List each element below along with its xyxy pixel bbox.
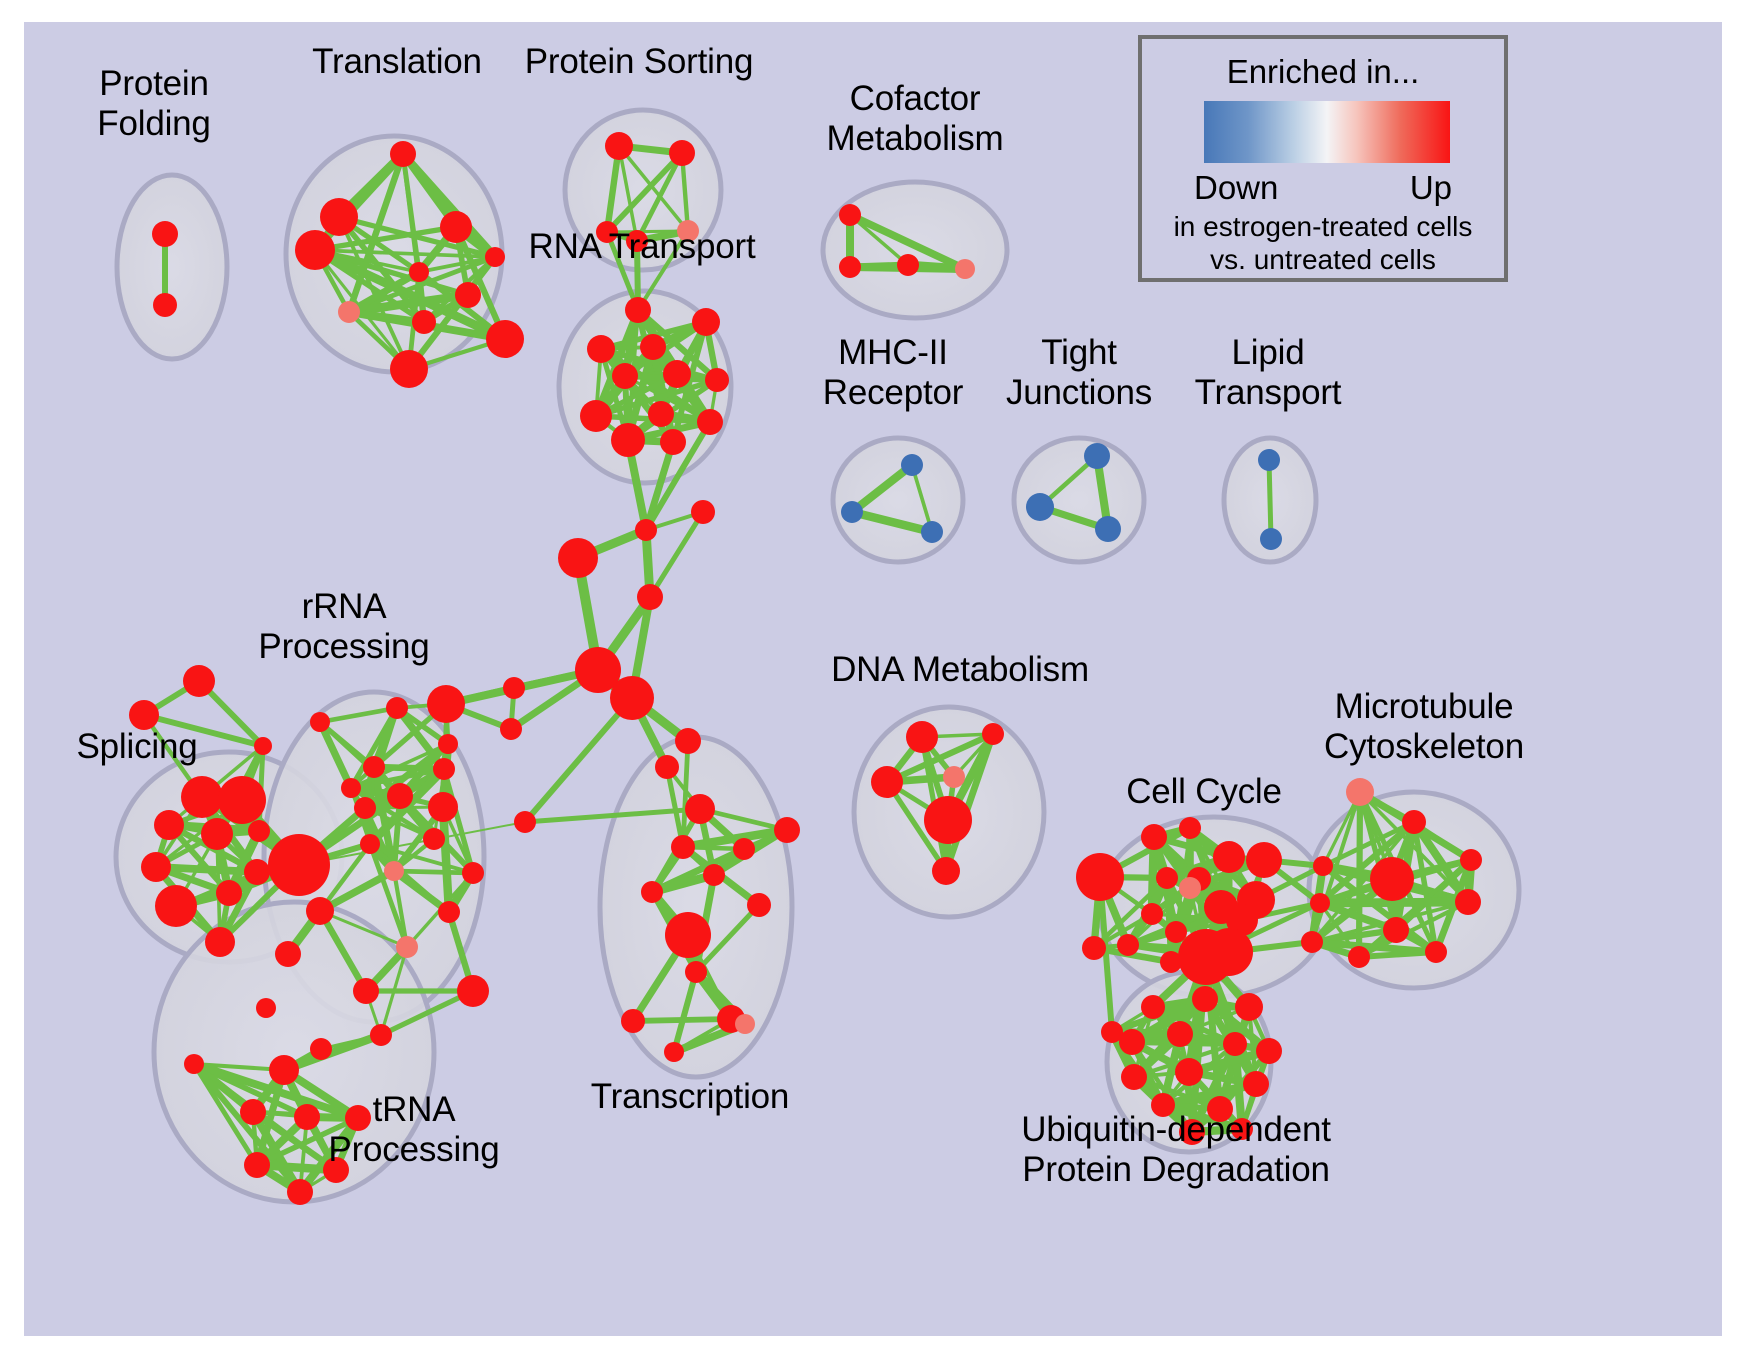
network-node[interactable]	[240, 1099, 266, 1125]
enrichment-map-figure: Protein FoldingTranslationProtein Sortin…	[0, 0, 1750, 1360]
network-node[interactable]	[625, 297, 651, 323]
network-node[interactable]	[384, 861, 404, 881]
network-edge	[633, 1019, 731, 1021]
network-node[interactable]	[427, 685, 465, 723]
network-node[interactable]	[697, 409, 723, 435]
network-node[interactable]	[433, 758, 455, 780]
color-scale-gradient	[1204, 101, 1450, 163]
network-node[interactable]	[685, 961, 707, 983]
network-node[interactable]	[1117, 934, 1139, 956]
network-edge	[525, 698, 632, 822]
network-node[interactable]	[457, 975, 489, 1007]
network-node[interactable]	[1141, 824, 1167, 850]
network-node[interactable]	[514, 811, 536, 833]
network-node[interactable]	[611, 423, 645, 457]
network-node[interactable]	[306, 897, 334, 925]
network-node[interactable]	[747, 893, 771, 917]
network-node[interactable]	[440, 211, 472, 243]
network-node[interactable]	[438, 734, 458, 754]
cluster-label-trna-processing: tRNA Processing	[328, 1090, 499, 1170]
network-node[interactable]	[181, 776, 223, 818]
network-node[interactable]	[141, 852, 171, 882]
network-node[interactable]	[1313, 856, 1333, 876]
network-node[interactable]	[1082, 936, 1106, 960]
network-node[interactable]	[1301, 931, 1323, 953]
network-edge	[1320, 902, 1468, 903]
network-node[interactable]	[387, 783, 413, 809]
network-node[interactable]	[1246, 842, 1282, 878]
cluster-hull-mhc-ii-receptor	[833, 438, 963, 562]
network-node[interactable]	[485, 247, 505, 267]
network-node[interactable]	[455, 282, 481, 308]
network-node[interactable]	[486, 320, 524, 358]
cluster-label-splicing: Splicing	[77, 727, 198, 767]
network-node[interactable]	[664, 1042, 684, 1062]
network-node[interactable]	[1258, 449, 1280, 471]
network-node[interactable]	[295, 230, 335, 270]
cluster-label-dna-metabolism: DNA Metabolism	[831, 650, 1089, 690]
network-node[interactable]	[932, 857, 960, 885]
network-node[interactable]	[1175, 1058, 1203, 1086]
network-node[interactable]	[244, 1152, 270, 1178]
network-node[interactable]	[841, 501, 863, 523]
legend-title: Enriched in...	[1142, 53, 1504, 91]
network-node[interactable]	[669, 140, 695, 166]
network-node[interactable]	[184, 1054, 204, 1074]
legend-subtitle-line2: vs. untreated cells	[1142, 244, 1504, 276]
cluster-label-cofactor-metabolism: Cofactor Metabolism	[827, 79, 1004, 159]
network-node[interactable]	[256, 998, 276, 1018]
cluster-hull-protein-folding	[117, 175, 227, 359]
network-node[interactable]	[1455, 889, 1481, 915]
network-node[interactable]	[152, 221, 178, 247]
network-node[interactable]	[1213, 841, 1245, 873]
network-node[interactable]	[641, 881, 663, 903]
network-node[interactable]	[153, 293, 177, 317]
cluster-label-protein-folding: Protein Folding	[97, 64, 210, 144]
network-node[interactable]	[839, 204, 861, 226]
network-edge	[443, 807, 449, 912]
cluster-label-cell-cycle: Cell Cycle	[1126, 772, 1282, 812]
network-node[interactable]	[921, 521, 943, 543]
network-node[interactable]	[1141, 995, 1165, 1019]
network-node[interactable]	[183, 665, 215, 697]
network-node[interactable]	[691, 500, 715, 524]
network-node[interactable]	[1121, 1064, 1147, 1090]
network-node[interactable]	[1205, 928, 1253, 976]
network-node[interactable]	[1076, 853, 1124, 901]
network-node[interactable]	[1235, 993, 1263, 1021]
network-node[interactable]	[839, 256, 861, 278]
network-node[interactable]	[660, 429, 686, 455]
network-node[interactable]	[338, 301, 360, 323]
network-node[interactable]	[310, 712, 330, 732]
network-node[interactable]	[503, 677, 525, 699]
network-node[interactable]	[154, 810, 184, 840]
network-node[interactable]	[129, 700, 159, 730]
network-node[interactable]	[1460, 849, 1482, 871]
network-node[interactable]	[685, 794, 715, 824]
network-canvas: Protein FoldingTranslationProtein Sortin…	[24, 22, 1722, 1336]
network-node[interactable]	[500, 718, 522, 740]
cluster-label-microtubule-cytoskeleton: Microtubule Cytoskeleton	[1324, 687, 1524, 767]
network-node[interactable]	[294, 1104, 320, 1130]
network-node[interactable]	[1165, 921, 1187, 943]
network-node[interactable]	[320, 198, 358, 236]
network-node[interactable]	[955, 259, 975, 279]
network-node[interactable]	[1402, 810, 1426, 834]
cluster-label-ubiquitin-protein-degradation: Ubiquitin-dependent Protein Degradation	[1021, 1110, 1331, 1190]
network-node[interactable]	[1310, 893, 1330, 913]
network-node[interactable]	[354, 797, 376, 819]
network-node[interactable]	[254, 737, 272, 755]
network-node[interactable]	[216, 880, 242, 906]
network-node[interactable]	[462, 862, 484, 884]
cluster-label-tight-junctions: Tight Junctions	[1006, 333, 1152, 413]
network-node[interactable]	[982, 723, 1004, 745]
cluster-label-rna-transport: RNA Transport	[529, 227, 756, 267]
network-node[interactable]	[1370, 857, 1414, 901]
network-node[interactable]	[1101, 1021, 1123, 1043]
network-node[interactable]	[1026, 493, 1054, 521]
network-node[interactable]	[218, 776, 266, 824]
cluster-label-lipid-transport: Lipid Transport	[1195, 333, 1342, 413]
network-node[interactable]	[665, 912, 711, 958]
network-node[interactable]	[671, 835, 695, 859]
legend-subtitle-line1: in estrogen-treated cells	[1142, 211, 1504, 243]
network-node[interactable]	[438, 901, 460, 923]
network-node[interactable]	[396, 936, 418, 958]
network-node[interactable]	[353, 978, 379, 1004]
network-node[interactable]	[705, 368, 729, 392]
network-node[interactable]	[269, 1055, 299, 1085]
network-node[interactable]	[640, 334, 666, 360]
network-node[interactable]	[1383, 917, 1409, 943]
network-node[interactable]	[428, 792, 458, 822]
network-node[interactable]	[390, 141, 416, 167]
network-node[interactable]	[1095, 516, 1121, 542]
network-node[interactable]	[248, 820, 270, 842]
network-node[interactable]	[1156, 867, 1178, 889]
legend-up-label: Up	[1410, 169, 1452, 207]
network-node[interactable]	[1256, 1038, 1282, 1064]
network-edge	[1269, 460, 1271, 539]
network-node[interactable]	[360, 834, 380, 854]
network-node[interactable]	[287, 1179, 313, 1205]
network-node[interactable]	[310, 1038, 332, 1060]
cluster-label-rrna-processing: rRNA Processing	[258, 587, 429, 667]
network-node[interactable]	[580, 400, 612, 432]
network-node[interactable]	[943, 766, 965, 788]
cluster-label-mhc-ii-receptor: MHC-II Receptor	[823, 333, 963, 413]
network-node[interactable]	[637, 584, 663, 610]
network-edge	[156, 867, 257, 872]
network-node[interactable]	[155, 885, 197, 927]
network-node[interactable]	[1243, 1071, 1269, 1097]
network-node[interactable]	[1223, 1032, 1247, 1056]
network-node[interactable]	[370, 1024, 392, 1046]
network-node[interactable]	[774, 817, 800, 843]
network-node[interactable]	[612, 363, 638, 389]
network-node[interactable]	[341, 778, 361, 798]
network-node[interactable]	[205, 927, 235, 957]
network-node[interactable]	[363, 756, 385, 778]
network-node[interactable]	[268, 834, 330, 896]
network-node[interactable]	[648, 401, 674, 427]
network-node[interactable]	[1141, 903, 1163, 925]
network-node[interactable]	[386, 697, 408, 719]
network-node[interactable]	[703, 864, 725, 886]
network-node[interactable]	[901, 454, 923, 476]
network-node[interactable]	[409, 262, 429, 282]
network-node[interactable]	[275, 941, 301, 967]
legend-box: Enriched in... Down Up in estrogen-treat…	[1138, 35, 1508, 282]
cluster-label-translation: Translation	[312, 42, 482, 82]
network-node[interactable]	[733, 838, 755, 860]
legend-down-label: Down	[1194, 169, 1278, 207]
network-node[interactable]	[1084, 443, 1110, 469]
network-node[interactable]	[906, 721, 938, 753]
network-node[interactable]	[897, 254, 919, 276]
network-node[interactable]	[1425, 941, 1447, 963]
network-node[interactable]	[605, 132, 633, 160]
network-node[interactable]	[1192, 986, 1218, 1012]
network-node[interactable]	[692, 308, 720, 336]
network-node[interactable]	[735, 1014, 755, 1034]
network-node[interactable]	[244, 859, 270, 885]
network-node[interactable]	[655, 755, 679, 779]
network-node[interactable]	[675, 728, 701, 754]
network-node[interactable]	[587, 335, 615, 363]
network-node[interactable]	[663, 360, 691, 388]
network-node[interactable]	[1348, 946, 1370, 968]
network-node[interactable]	[635, 519, 657, 541]
network-node[interactable]	[1179, 877, 1201, 899]
network-node[interactable]	[412, 310, 436, 334]
cluster-label-protein-sorting: Protein Sorting	[525, 42, 754, 82]
network-node[interactable]	[1346, 778, 1374, 806]
network-node[interactable]	[558, 538, 598, 578]
network-node[interactable]	[871, 766, 903, 798]
network-node[interactable]	[201, 818, 233, 850]
network-node[interactable]	[423, 828, 445, 850]
network-node[interactable]	[610, 676, 654, 720]
cluster-label-transcription: Transcription	[591, 1077, 789, 1117]
network-node[interactable]	[390, 350, 428, 388]
network-node[interactable]	[1167, 1021, 1193, 1047]
network-node[interactable]	[1179, 817, 1201, 839]
network-node[interactable]	[621, 1009, 645, 1033]
network-node[interactable]	[924, 796, 972, 844]
network-node[interactable]	[1260, 528, 1282, 550]
